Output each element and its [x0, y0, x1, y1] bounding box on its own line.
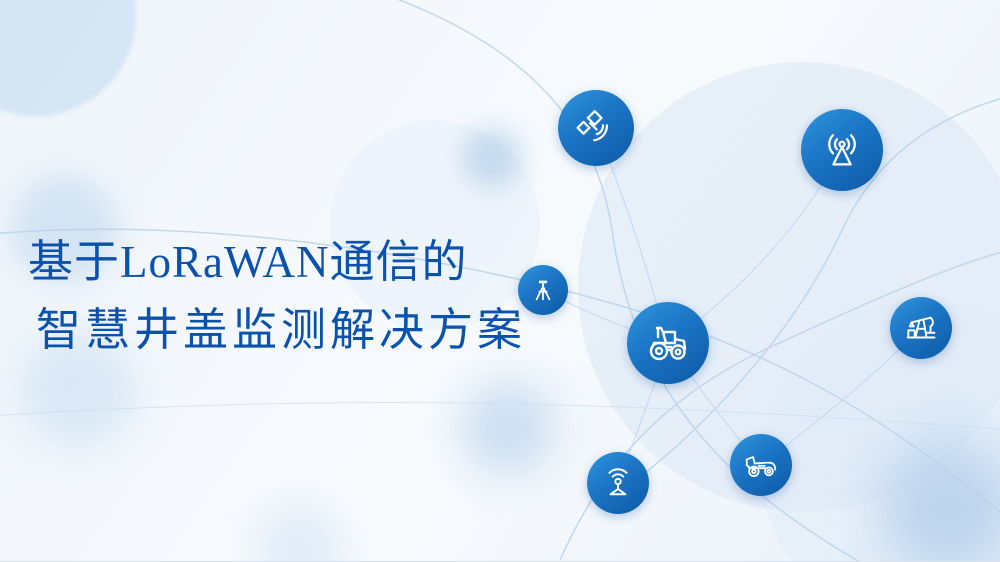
blob-center-top	[462, 128, 522, 188]
node-rover-vehicle[interactable]	[730, 434, 792, 496]
blob-top-left	[0, 0, 136, 116]
blob-bottom-right	[880, 440, 1000, 562]
page-title: 基于LoRaWAN通信的 智慧井盖监测解决方案	[28, 228, 588, 364]
sensor-beacon-icon	[600, 465, 636, 501]
survey-tripod-icon	[529, 276, 557, 304]
node-oil-pump[interactable]	[890, 297, 952, 359]
node-tractor[interactable]	[627, 302, 709, 384]
blob-center-left	[460, 380, 556, 476]
tractor-icon	[644, 319, 692, 367]
radio-tower-icon	[819, 127, 865, 173]
node-radio-tower[interactable]	[801, 109, 883, 191]
oil-pump-icon	[902, 309, 940, 347]
node-satellite[interactable]	[558, 90, 634, 166]
node-sensor-beacon[interactable]	[587, 452, 649, 514]
rover-vehicle-icon	[742, 446, 780, 484]
ghost-circle-medium	[760, 300, 1000, 562]
blob-bottom-mid	[258, 508, 342, 562]
title-line-2: 智慧井盖监测解决方案	[28, 296, 588, 364]
title-line-1: 基于LoRaWAN通信的	[28, 228, 588, 296]
satellite-icon	[575, 107, 617, 149]
ghost-circle-large	[578, 62, 1000, 512]
title-slide: 基于LoRaWAN通信的 智慧井盖监测解决方案	[0, 0, 1000, 562]
node-survey-tripod[interactable]	[518, 265, 568, 315]
